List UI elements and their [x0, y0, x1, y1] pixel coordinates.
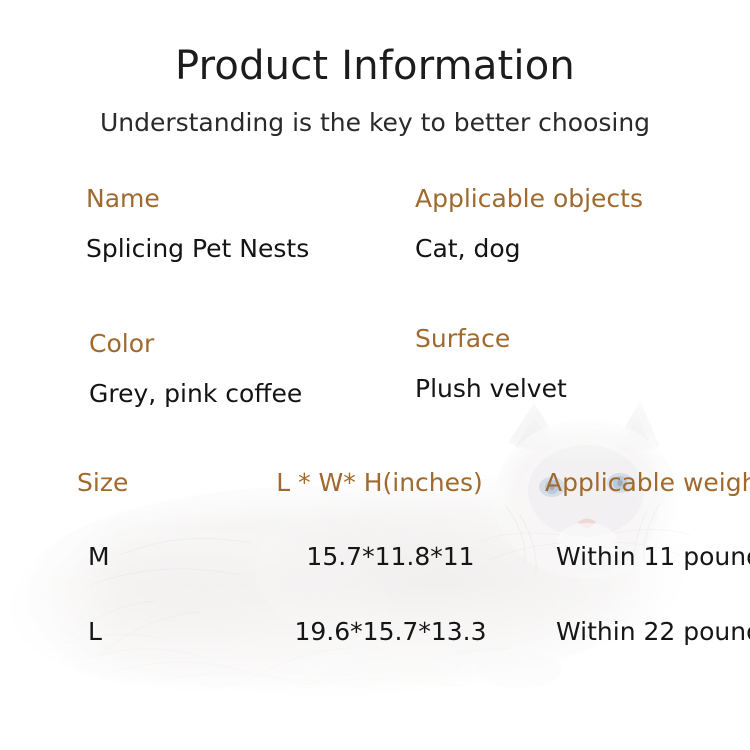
- table-row: L 19.6*15.7*13.3 Within 22 pounds: [60, 617, 740, 647]
- attribute-surface-label: Surface: [415, 324, 567, 354]
- size-table-row-m-dimensions: 15.7*11.8*11: [253, 542, 528, 572]
- size-table-header-size: Size: [60, 468, 242, 498]
- attribute-applicable-objects-label: Applicable objects: [415, 184, 643, 214]
- attribute-surface-value: Plush velvet: [415, 374, 567, 404]
- size-table-row-l-weight: Within 22 pounds: [528, 617, 750, 647]
- size-table: Size L * W* H(inches) Applicable weight:…: [60, 468, 740, 647]
- size-table-row-l-size: L: [60, 617, 253, 647]
- size-table-header-weight: Applicable weight:: [517, 468, 750, 498]
- page-title: Product Information: [0, 44, 750, 89]
- size-table-header-row: Size L * W* H(inches) Applicable weight:: [60, 468, 740, 498]
- page-subtitle: Understanding is the key to better choos…: [0, 108, 750, 138]
- attribute-name: Name Splicing Pet Nests: [86, 184, 309, 264]
- size-table-row-l-dimensions: 19.6*15.7*13.3: [253, 617, 528, 647]
- size-table-row-m-weight: Within 11 pounds: [528, 542, 750, 572]
- table-row: M 15.7*11.8*11 Within 11 pounds: [60, 542, 740, 572]
- attribute-applicable-objects-value: Cat, dog: [415, 234, 643, 264]
- attribute-applicable-objects: Applicable objects Cat, dog: [415, 184, 643, 264]
- attribute-color: Color Grey, pink coffee: [89, 329, 302, 409]
- attribute-name-value: Splicing Pet Nests: [86, 234, 309, 264]
- attribute-color-value: Grey, pink coffee: [89, 379, 302, 409]
- size-table-row-m-size: M: [60, 542, 253, 572]
- attribute-surface: Surface Plush velvet: [415, 324, 567, 404]
- size-table-header-dimensions: L * W* H(inches): [242, 468, 517, 498]
- attribute-color-label: Color: [89, 329, 302, 359]
- product-information-page: Product Information Understanding is the…: [0, 0, 750, 750]
- attribute-name-label: Name: [86, 184, 309, 214]
